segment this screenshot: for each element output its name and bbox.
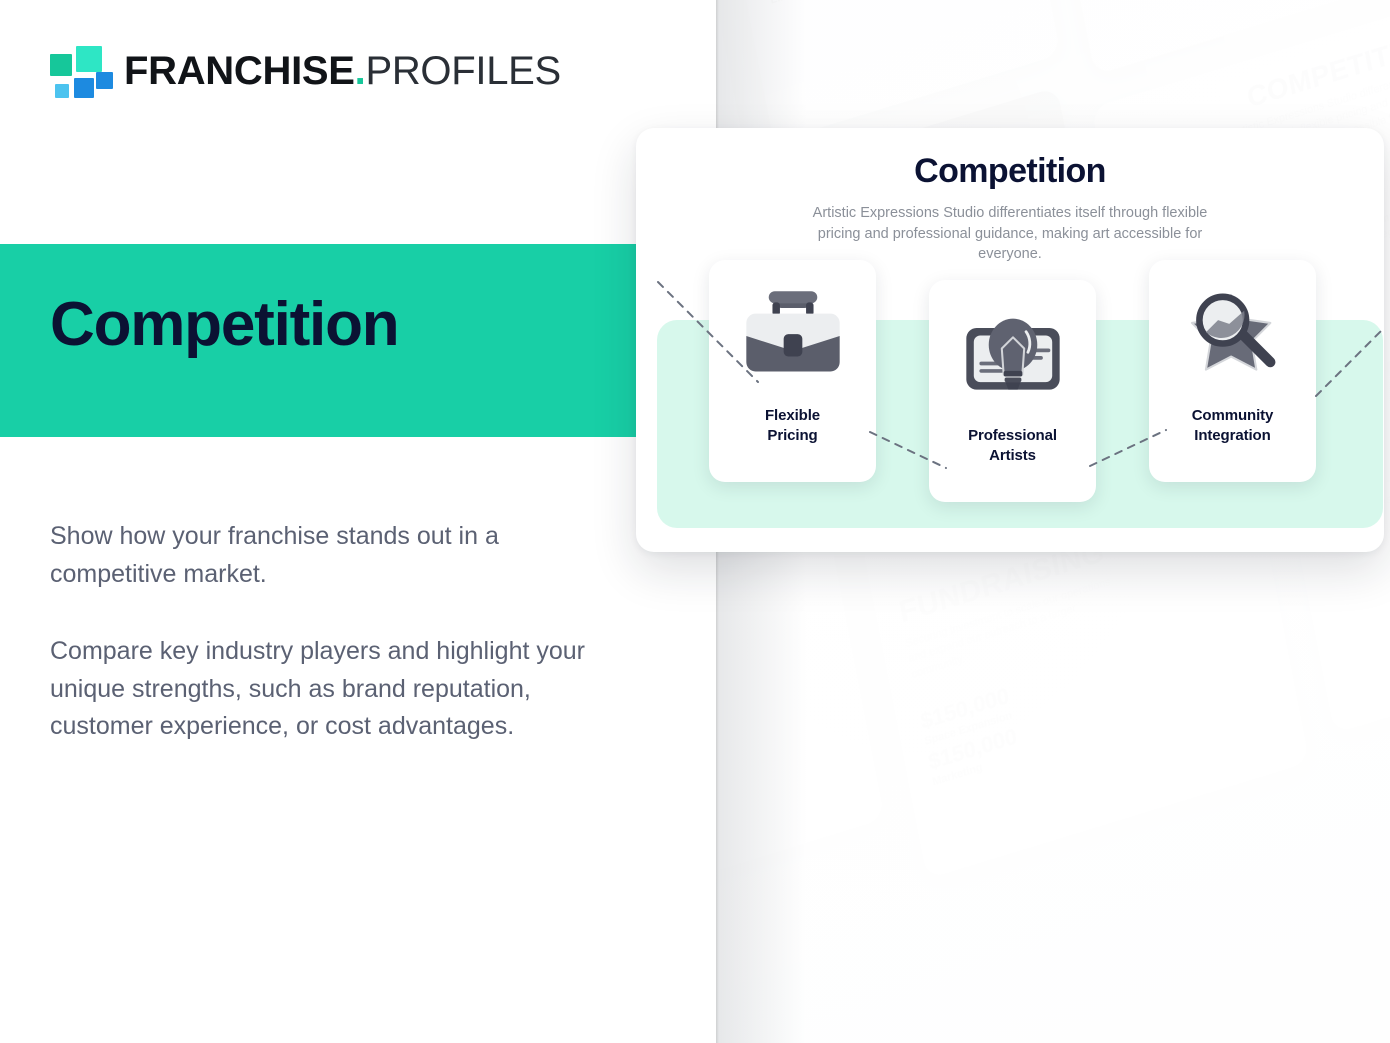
lightbulb-presentation-icon xyxy=(954,302,1072,410)
feature-label: ProfessionalArtists xyxy=(968,426,1057,467)
left-panel: FRANCHISE.PROFILES Competition Show how … xyxy=(0,0,716,1043)
page-title: Competition xyxy=(50,294,398,356)
description-paragraph: Show how your franchise stands out in a … xyxy=(50,518,630,593)
brand-wordmark: FRANCHISE.PROFILES xyxy=(124,51,561,91)
section-title-band: Competition xyxy=(0,244,636,437)
feature-label: CommunityIntegration xyxy=(1192,406,1274,447)
feature-card-professional-artists[interactable]: ProfessionalArtists xyxy=(929,280,1096,502)
slide-preview-card[interactable]: Competition Artistic Expressions Studio … xyxy=(636,128,1384,552)
feature-card-row: FlexiblePricing xyxy=(636,128,1384,552)
presentation-slide: Drop-In Fees Session Workshops Commissio… xyxy=(0,0,1390,1043)
star-magnifier-icon xyxy=(1174,282,1292,390)
briefcase-icon xyxy=(734,282,852,390)
brand-logo[interactable]: FRANCHISE.PROFILES xyxy=(48,44,561,98)
feature-label: FlexiblePricing xyxy=(765,406,820,447)
feature-card-community-integration[interactable]: CommunityIntegration xyxy=(1149,260,1316,482)
brand-name-thin: PROFILES xyxy=(365,49,560,93)
description-block: Show how your franchise stands out in a … xyxy=(50,518,630,746)
brand-name-dot: . xyxy=(355,49,366,93)
brand-name-bold: FRANCHISE xyxy=(124,49,355,93)
feature-card-flexible-pricing[interactable]: FlexiblePricing xyxy=(709,260,876,482)
logo-squares-icon xyxy=(48,44,108,98)
description-paragraph: Compare key industry players and highlig… xyxy=(50,633,630,746)
